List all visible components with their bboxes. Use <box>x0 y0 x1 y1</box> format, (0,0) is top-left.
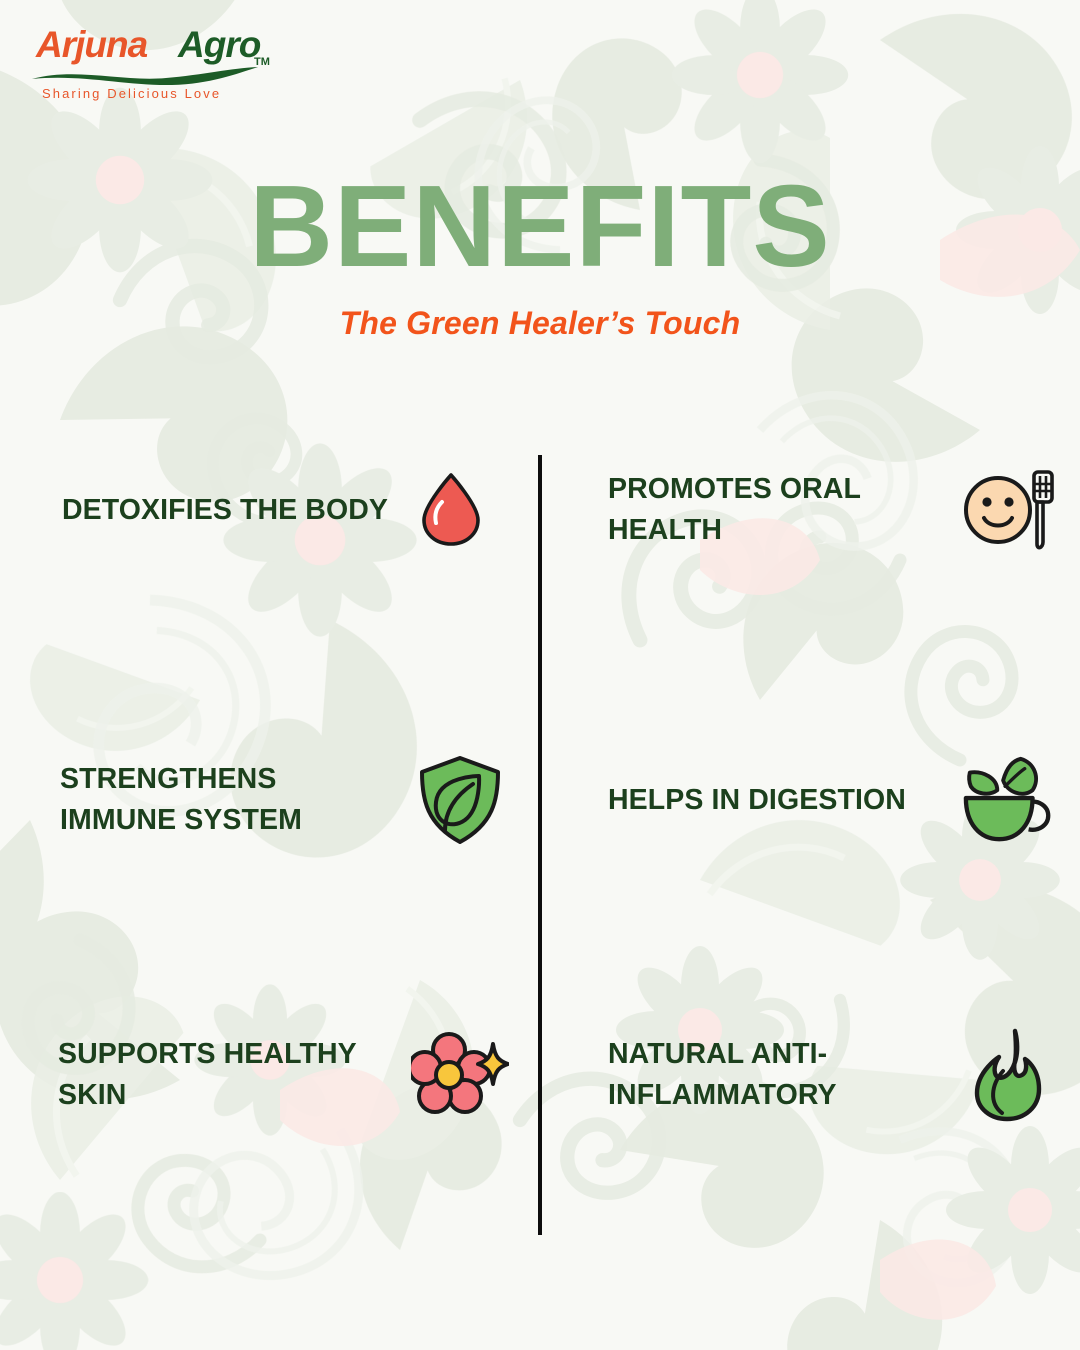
logo-agro-text: Agro <box>178 24 260 66</box>
benefit-item-digestion: HELPS IN DIGESTION <box>590 735 1060 865</box>
shield-leaf-icon <box>410 750 510 850</box>
benefit-label: DETOXIFIES THE BODY <box>40 490 410 531</box>
logo-swoosh-icon <box>26 66 264 86</box>
smiley-toothbrush-icon <box>960 460 1060 560</box>
benefit-label: SUPPORTS HEALTHY SKIN <box>40 1034 410 1116</box>
page-title: BENEFITS <box>0 168 1080 284</box>
benefit-item-anti-inflammatory: NATURAL ANTI-INFLAMMATORY <box>590 1010 1060 1140</box>
benefit-item-oral-health: PROMOTES ORAL HEALTH <box>590 445 1060 575</box>
flower-sparkle-icon <box>410 1025 510 1125</box>
tea-cup-leaf-icon <box>960 750 1060 850</box>
flame-leaf-icon <box>960 1025 1060 1125</box>
benefits-poster: Arjuna Agro TM Sharing Delicious Love BE… <box>0 0 1080 1350</box>
benefit-label: STRENGTHENS IMMUNE SYSTEM <box>40 759 410 841</box>
column-divider <box>538 455 542 1235</box>
brand-logo: Arjuna Agro TM Sharing Delicious Love <box>26 26 264 108</box>
page-subtitle: The Green Healer’s Touch <box>0 305 1080 342</box>
blood-drop-icon <box>410 460 510 560</box>
benefit-item-skin: SUPPORTS HEALTHY SKIN <box>40 1010 510 1140</box>
benefit-item-immune: STRENGTHENS IMMUNE SYSTEM <box>40 735 510 865</box>
logo-arjuna-text: Arjuna <box>36 24 147 66</box>
benefit-item-detoxifies: DETOXIFIES THE BODY <box>40 445 510 575</box>
benefit-label: PROMOTES ORAL HEALTH <box>590 469 946 551</box>
logo-tagline: Sharing Delicious Love <box>42 86 221 101</box>
benefit-label: NATURAL ANTI-INFLAMMATORY <box>590 1034 946 1116</box>
logo-wordmark: Arjuna Agro TM <box>26 26 264 70</box>
benefit-label: HELPS IN DIGESTION <box>590 780 946 821</box>
